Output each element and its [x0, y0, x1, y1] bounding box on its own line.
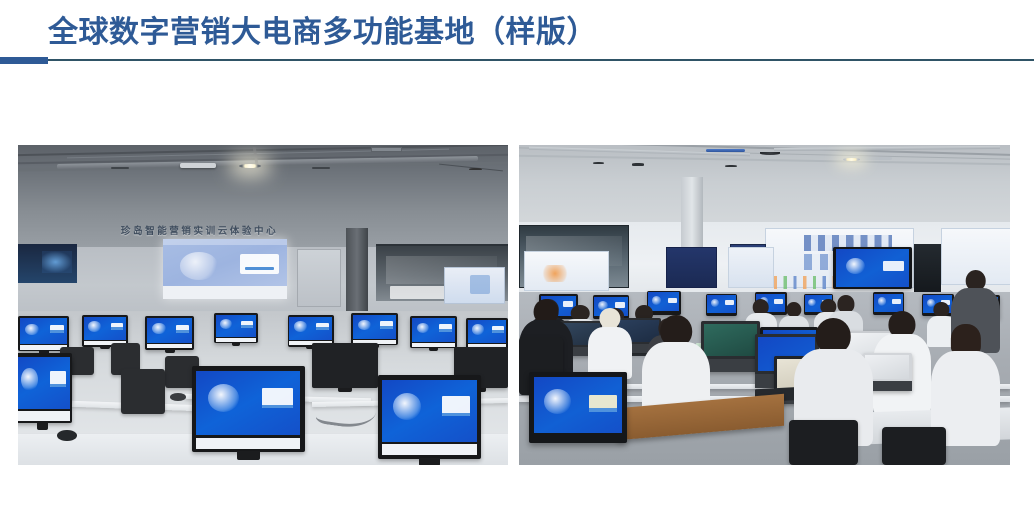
monitor	[82, 315, 129, 347]
title-divider-line	[48, 59, 1034, 61]
photo-training-room-overview[interactable]: 珍岛智能营销实训云体验中心	[18, 145, 508, 465]
monitor	[18, 353, 72, 423]
projection-screen-topbar	[163, 239, 288, 244]
photo-training-room-in-session[interactable]	[519, 145, 1010, 465]
monitor-screen	[18, 357, 70, 409]
globe-graphic-icon	[180, 252, 217, 279]
monitor	[145, 316, 194, 350]
monitor-screen-footer	[196, 438, 300, 449]
monitor	[706, 294, 738, 316]
monitor-foreground	[378, 375, 481, 458]
structural-column	[346, 228, 368, 311]
monitor-screen	[147, 318, 192, 343]
wall-signage-text: 珍岛智能营销实训云体验中心	[121, 223, 278, 237]
login-button-graphic	[245, 267, 274, 270]
monitor-screen	[468, 320, 506, 344]
monitor-stand	[100, 346, 109, 349]
computer-mouse	[57, 430, 77, 441]
title-accent-bar	[0, 57, 48, 64]
monitor	[214, 313, 258, 343]
login-card	[240, 254, 279, 274]
ceiling-speaker	[111, 167, 129, 169]
monitor-screen	[84, 317, 127, 341]
ceiling-projector	[706, 149, 745, 152]
monitor-screen-footer	[147, 344, 192, 348]
office-chair	[121, 369, 165, 414]
ceiling-projector	[180, 163, 217, 168]
monitor-screen-footer	[216, 338, 257, 342]
standing-banner	[728, 247, 774, 287]
dome-light	[760, 152, 781, 155]
wall-display	[833, 247, 912, 289]
wall-display-screen	[836, 249, 910, 286]
projection-screen	[163, 239, 288, 298]
wall-infographic-panel	[524, 251, 609, 291]
ceiling-lamp	[843, 158, 860, 161]
monitor-screen	[707, 295, 736, 313]
ceiling-speaker	[312, 167, 330, 169]
ceiling-projector	[858, 157, 892, 160]
monitor	[410, 316, 457, 348]
track-light	[469, 168, 482, 171]
track-light	[593, 162, 605, 164]
monitor-screen	[196, 371, 300, 435]
monitor-screen	[216, 315, 257, 337]
room-door	[914, 244, 941, 292]
page-title: 全球数字营销大电商多功能基地（样版）	[48, 12, 597, 54]
monitor-stand	[232, 343, 241, 346]
monitor	[288, 315, 335, 347]
student-body	[588, 327, 632, 379]
monitor-screen	[874, 294, 903, 312]
monitor-stand	[419, 458, 440, 465]
side-display-panel	[18, 244, 77, 282]
monitor-screen	[412, 318, 455, 342]
wall-logo	[390, 286, 449, 299]
monitor	[466, 318, 508, 350]
monitor-screen	[289, 317, 332, 341]
monitor-stand	[37, 423, 49, 430]
monitor-screen	[382, 380, 477, 442]
monitor-foreground	[192, 366, 305, 452]
monitor-rear	[312, 343, 378, 388]
monitor-stand	[237, 451, 260, 460]
monitor-screen-footer	[18, 411, 70, 420]
photo-scene-right	[519, 145, 1010, 465]
monitor-screen-footer	[412, 343, 455, 347]
monitor-stand	[165, 349, 175, 352]
office-chair	[882, 427, 946, 465]
photo-scene-left: 珍岛智能营销实训云体验中心	[18, 145, 508, 465]
computer-mouse	[170, 393, 186, 401]
projection-screen-footer	[163, 286, 288, 299]
laptop-screen	[704, 324, 757, 356]
monitor-foreground	[529, 372, 627, 442]
monitor-stand	[338, 388, 351, 392]
standing-banner	[444, 267, 505, 304]
monitor-screen-footer	[382, 444, 477, 455]
monitor-screen	[20, 318, 67, 344]
room-door	[297, 249, 341, 307]
office-chair	[789, 420, 858, 465]
air-vent	[371, 147, 402, 152]
monitor-screen	[534, 377, 622, 433]
track-light	[725, 165, 737, 167]
slide-canvas: 全球数字营销大电商多功能基地（样版） 珍岛智能营销实训	[0, 0, 1034, 525]
monitor-stand	[429, 348, 438, 351]
ceiling	[519, 145, 1010, 228]
track-light	[632, 163, 644, 165]
monitor	[351, 313, 398, 345]
standing-banner	[666, 247, 717, 287]
student	[588, 308, 632, 378]
ceiling-pipe	[183, 147, 257, 164]
monitor-back-panel	[315, 346, 376, 379]
monitor-screen	[353, 315, 396, 339]
